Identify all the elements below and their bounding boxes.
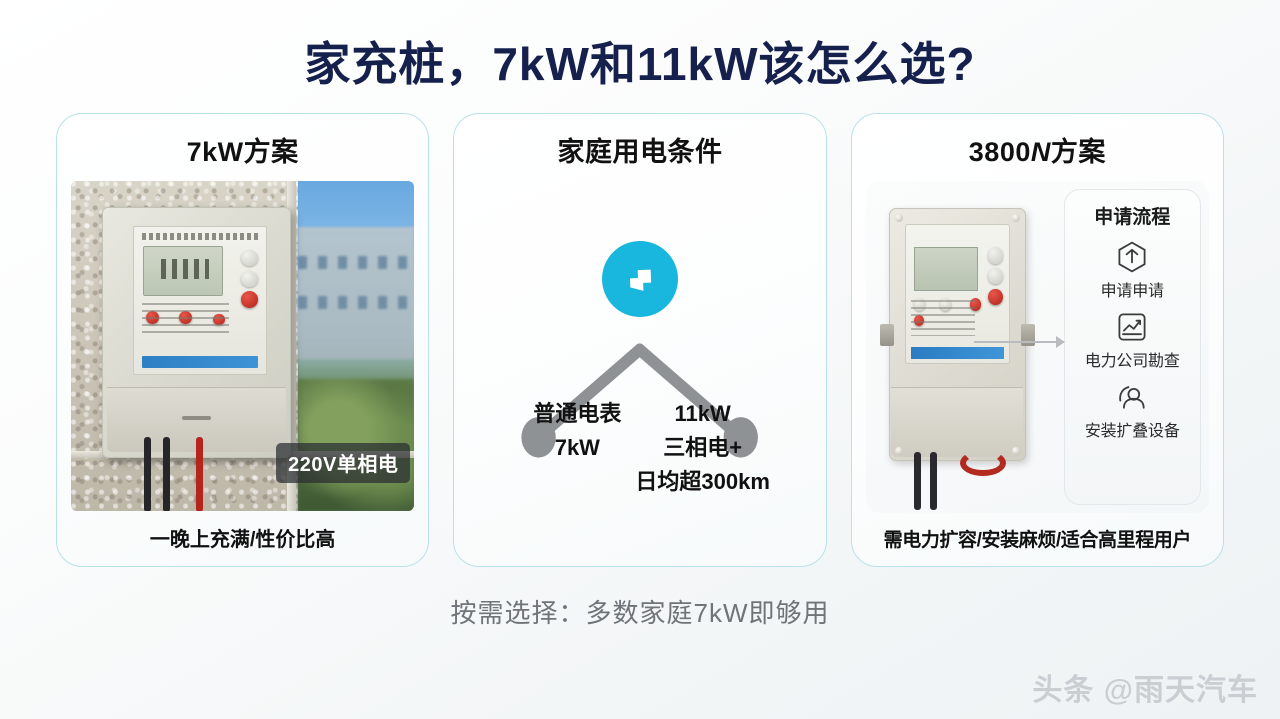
three-phase-meter-photo bbox=[874, 189, 1064, 505]
meter-button-red-1 bbox=[241, 291, 258, 307]
three-phase-terminal-cover bbox=[891, 387, 1023, 457]
card-3800n-title: 3800N方案 bbox=[866, 130, 1209, 169]
meter-button-gray-2 bbox=[241, 271, 258, 287]
meter-cable-black-2 bbox=[163, 437, 170, 511]
line-chart-icon bbox=[1114, 309, 1150, 345]
meter-lcd-digits bbox=[161, 259, 209, 279]
card-3800n-title-suffix: 方案 bbox=[1051, 137, 1106, 167]
branch-right-line2: 三相电+ bbox=[598, 431, 808, 465]
three-phase-cable-1 bbox=[914, 452, 921, 510]
card-household-power: 家庭用电条件 普通电表 7kW 11kW 三相电+ 日均超300km bbox=[453, 113, 826, 567]
flow-step-1: 申请申请 bbox=[1101, 239, 1164, 301]
three-phase-button-gray-2 bbox=[988, 268, 1002, 285]
card-3800n-title-prefix: 3800 bbox=[969, 137, 1031, 167]
meter-spec-text bbox=[142, 303, 229, 335]
three-phase-section: 申请流程 申请申请 电力公司勘查 bbox=[866, 181, 1209, 513]
meter-lcd-screen bbox=[143, 246, 223, 296]
three-phase-cable-2 bbox=[930, 452, 937, 510]
flow-step-2-label: 电力公司勘查 bbox=[1085, 347, 1180, 371]
voltage-badge: 220V单相电 bbox=[276, 443, 410, 483]
three-phase-screw-br bbox=[1012, 447, 1020, 455]
three-phase-spec-text bbox=[911, 300, 975, 336]
electric-meter-body bbox=[102, 207, 291, 458]
meter-button-gray-1 bbox=[241, 250, 258, 266]
three-phase-lcd bbox=[914, 247, 978, 291]
footer-note: 按需选择：多数家庭7kW即够用 bbox=[0, 567, 1280, 630]
three-phase-clamp-right bbox=[1021, 324, 1035, 346]
branch-right-line3: 日均超300km bbox=[598, 465, 808, 499]
three-phase-faceplate bbox=[905, 224, 1010, 364]
card-7kw-title: 7kW方案 bbox=[71, 130, 414, 169]
meter-photo-single-phase: 220V单相电 bbox=[71, 181, 414, 511]
flow-panel-title: 申请流程 bbox=[1094, 202, 1170, 229]
three-phase-screw-bl bbox=[895, 447, 903, 455]
flow-step-1-label: 申请申请 bbox=[1101, 277, 1164, 301]
flow-arrow-icon bbox=[974, 341, 1064, 343]
card-7kw-plan: 7kW方案 bbox=[56, 113, 429, 567]
card-3800n-plan: 3800N方案 bbox=[851, 113, 1224, 567]
card-household-title: 家庭用电条件 bbox=[468, 130, 811, 169]
flow-step-2: 电力公司勘查 bbox=[1085, 309, 1180, 371]
meter-vent-slot bbox=[182, 416, 211, 420]
three-phase-meter-body bbox=[889, 208, 1026, 461]
three-phase-button-red-1 bbox=[988, 289, 1002, 306]
branch-diagram: 普通电表 7kW 11kW 三相电+ 日均超300km bbox=[468, 181, 811, 552]
three-phase-brand-strip bbox=[911, 347, 1004, 359]
arrow-up-right-icon bbox=[618, 257, 662, 301]
flow-step-3: 安装扩叠设备 bbox=[1085, 379, 1180, 441]
page-title: 家充桩，7kW和11kW该怎么选? bbox=[0, 0, 1280, 91]
flow-step-3-label: 安装扩叠设备 bbox=[1085, 417, 1180, 441]
three-phase-button-gray-1 bbox=[988, 247, 1002, 264]
photo-building bbox=[298, 227, 415, 359]
root-node-circle bbox=[602, 241, 678, 317]
meter-cable-red bbox=[196, 437, 203, 511]
card-7kw-caption: 一晚上充满/性价比高 bbox=[71, 511, 414, 552]
meter-cable-black-1 bbox=[144, 437, 151, 511]
user-person-icon bbox=[1114, 379, 1150, 415]
meter-faceplate bbox=[133, 226, 268, 375]
application-flow-panel: 申请流程 申请申请 电力公司勘查 bbox=[1064, 189, 1201, 505]
three-phase-screw-tr bbox=[1012, 214, 1020, 222]
cards-row: 7kW方案 bbox=[0, 91, 1280, 567]
three-phase-red-loop bbox=[960, 450, 1006, 476]
hexagon-box-icon bbox=[1114, 239, 1150, 275]
meter-brand-strip bbox=[142, 356, 259, 368]
watermark: 头条 @雨天汽车 bbox=[1032, 665, 1258, 709]
three-phase-clamp-left bbox=[880, 324, 894, 346]
card-3800n-title-italic: N bbox=[1031, 137, 1051, 167]
card-3800n-caption: 需电力扩容/安装麻烦/适合高里程用户 bbox=[866, 513, 1209, 552]
three-phase-screw-tl bbox=[895, 214, 903, 222]
branch-right-line1: 11kW bbox=[675, 401, 731, 426]
branch-right-label: 11kW 三相电+ 日均超300km bbox=[598, 397, 808, 499]
meter-header-text bbox=[142, 233, 259, 240]
